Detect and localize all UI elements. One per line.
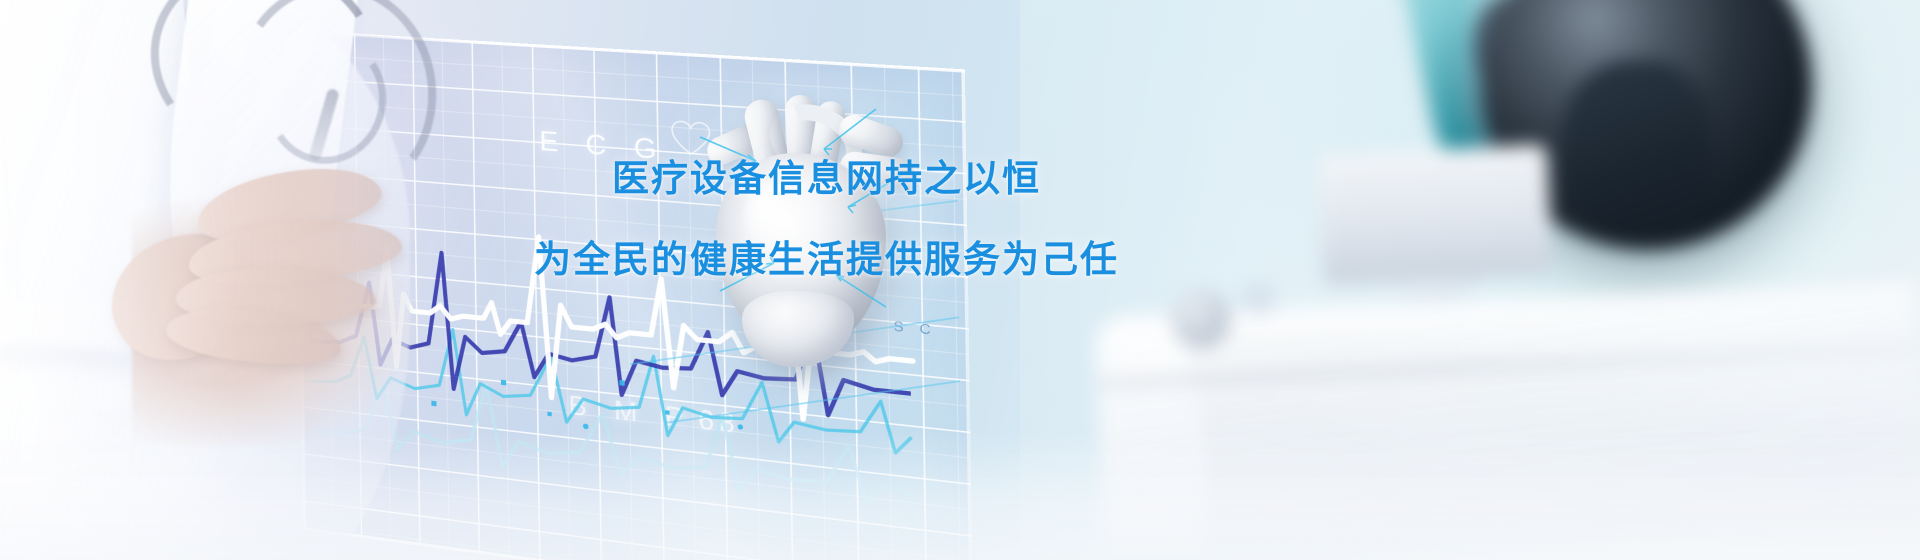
microscope-image bbox=[1160, 0, 1920, 520]
ecg-data-markers bbox=[431, 360, 744, 447]
bokeh-highlight bbox=[1238, 278, 1280, 320]
microscope-stage bbox=[1317, 144, 1553, 286]
microscope-dark-part-2 bbox=[1560, 60, 1710, 240]
medical-hero-banner: E C G B M P 68 S C bbox=[0, 0, 1920, 560]
microscope-focus-knob bbox=[1172, 290, 1230, 348]
ruler-markings bbox=[1192, 306, 1920, 560]
headline-primary: 医疗设备信息网持之以恒 bbox=[612, 160, 1254, 197]
headline-block: 医疗设备信息网持之以恒 为全民的健康生活提供服务为己任 bbox=[534, 160, 1254, 278]
headline-secondary: 为全民的健康生活提供服务为己任 bbox=[534, 241, 1254, 278]
